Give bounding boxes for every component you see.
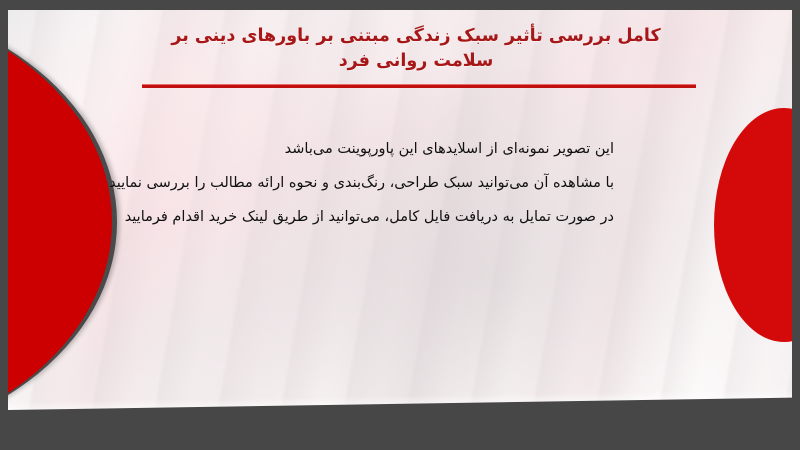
slide-title-line-2: سلامت روانی فرد	[128, 49, 704, 74]
slide-body-line-1: این تصویر نمونه‌ای از اسلایدهای این پاور…	[144, 132, 614, 166]
slide-body-line-3: در صورت تمایل به دریافت فایل کامل، می‌تو…	[144, 200, 614, 234]
slide-body: این تصویر نمونه‌ای از اسلایدهای این پاور…	[144, 132, 614, 234]
title-underline-rule	[142, 84, 696, 88]
slide-title: کامل بررسی تأثیر سبک زندگی مبتنی بر باور…	[128, 24, 704, 74]
presentation-slide: کامل بررسی تأثیر سبک زندگی مبتنی بر باور…	[0, 0, 800, 450]
slide-body-line-2: با مشاهده آن می‌توانید سبک طراحی، رنگ‌بن…	[144, 166, 614, 200]
left-red-wedge-decoration	[8, 10, 117, 434]
right-red-circle-decoration	[714, 108, 792, 342]
slide-title-line-1: کامل بررسی تأثیر سبک زندگی مبتنی بر باور…	[128, 24, 704, 49]
bottom-dark-band-decoration	[8, 395, 792, 434]
slide-canvas: کامل بررسی تأثیر سبک زندگی مبتنی بر باور…	[8, 10, 792, 434]
